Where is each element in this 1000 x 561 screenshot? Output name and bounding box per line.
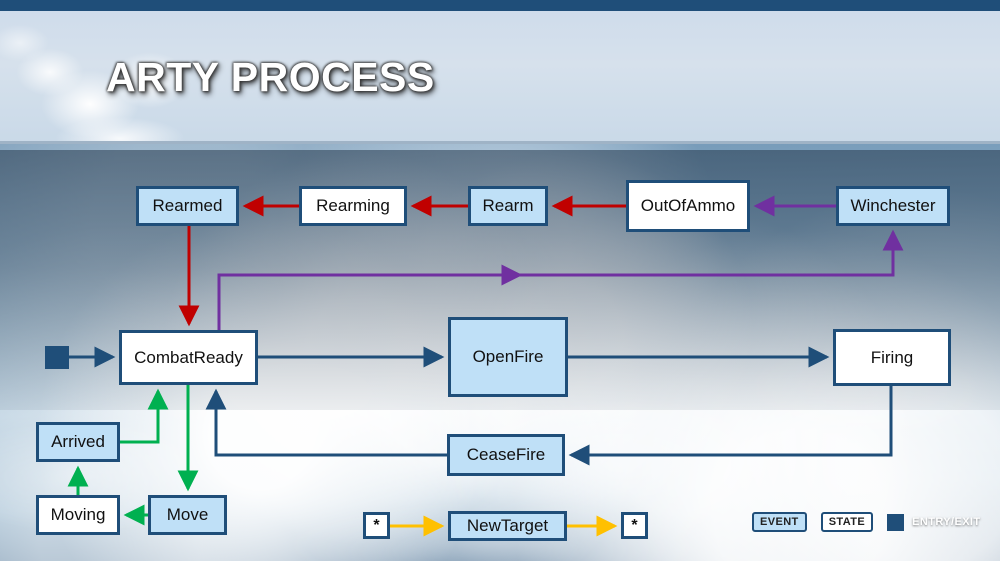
entry-exit-marker <box>45 346 69 369</box>
legend-entry-exit-label: ENTRY/EXIT <box>912 516 980 528</box>
legend-entry-exit-swatch <box>887 514 904 531</box>
node-firing[interactable]: Firing <box>833 329 951 386</box>
node-outofammo[interactable]: OutOfAmmo <box>626 180 750 232</box>
node-newtarget[interactable]: NewTarget <box>448 511 567 541</box>
node-rearmed[interactable]: Rearmed <box>136 186 239 226</box>
node-combatready[interactable]: CombatReady <box>119 330 258 385</box>
edge-arrived-to-combatready <box>120 391 158 442</box>
node-openfire[interactable]: OpenFire <box>448 317 568 397</box>
edge-combatready-to-winchester <box>219 232 893 330</box>
node-move[interactable]: Move <box>148 495 227 535</box>
node-rearm[interactable]: Rearm <box>468 186 548 226</box>
node-star-right[interactable]: * <box>621 512 648 539</box>
legend-state-swatch: STATE <box>821 512 873 532</box>
node-moving[interactable]: Moving <box>36 495 120 535</box>
node-winchester[interactable]: Winchester <box>836 186 950 226</box>
legend: EVENT STATE ENTRY/EXIT <box>752 512 981 532</box>
node-rearming[interactable]: Rearming <box>299 186 407 226</box>
node-star-left[interactable]: * <box>363 512 390 539</box>
connector-layer <box>0 0 1000 561</box>
edge-firing-to-ceasefire <box>571 386 891 455</box>
legend-event-swatch: EVENT <box>752 512 807 532</box>
node-arrived[interactable]: Arrived <box>36 422 120 462</box>
edge-ceasefire-to-combatready <box>216 391 447 455</box>
node-ceasefire[interactable]: CeaseFire <box>447 434 565 476</box>
slide-canvas: ARTY PROCESS <box>0 0 1000 561</box>
